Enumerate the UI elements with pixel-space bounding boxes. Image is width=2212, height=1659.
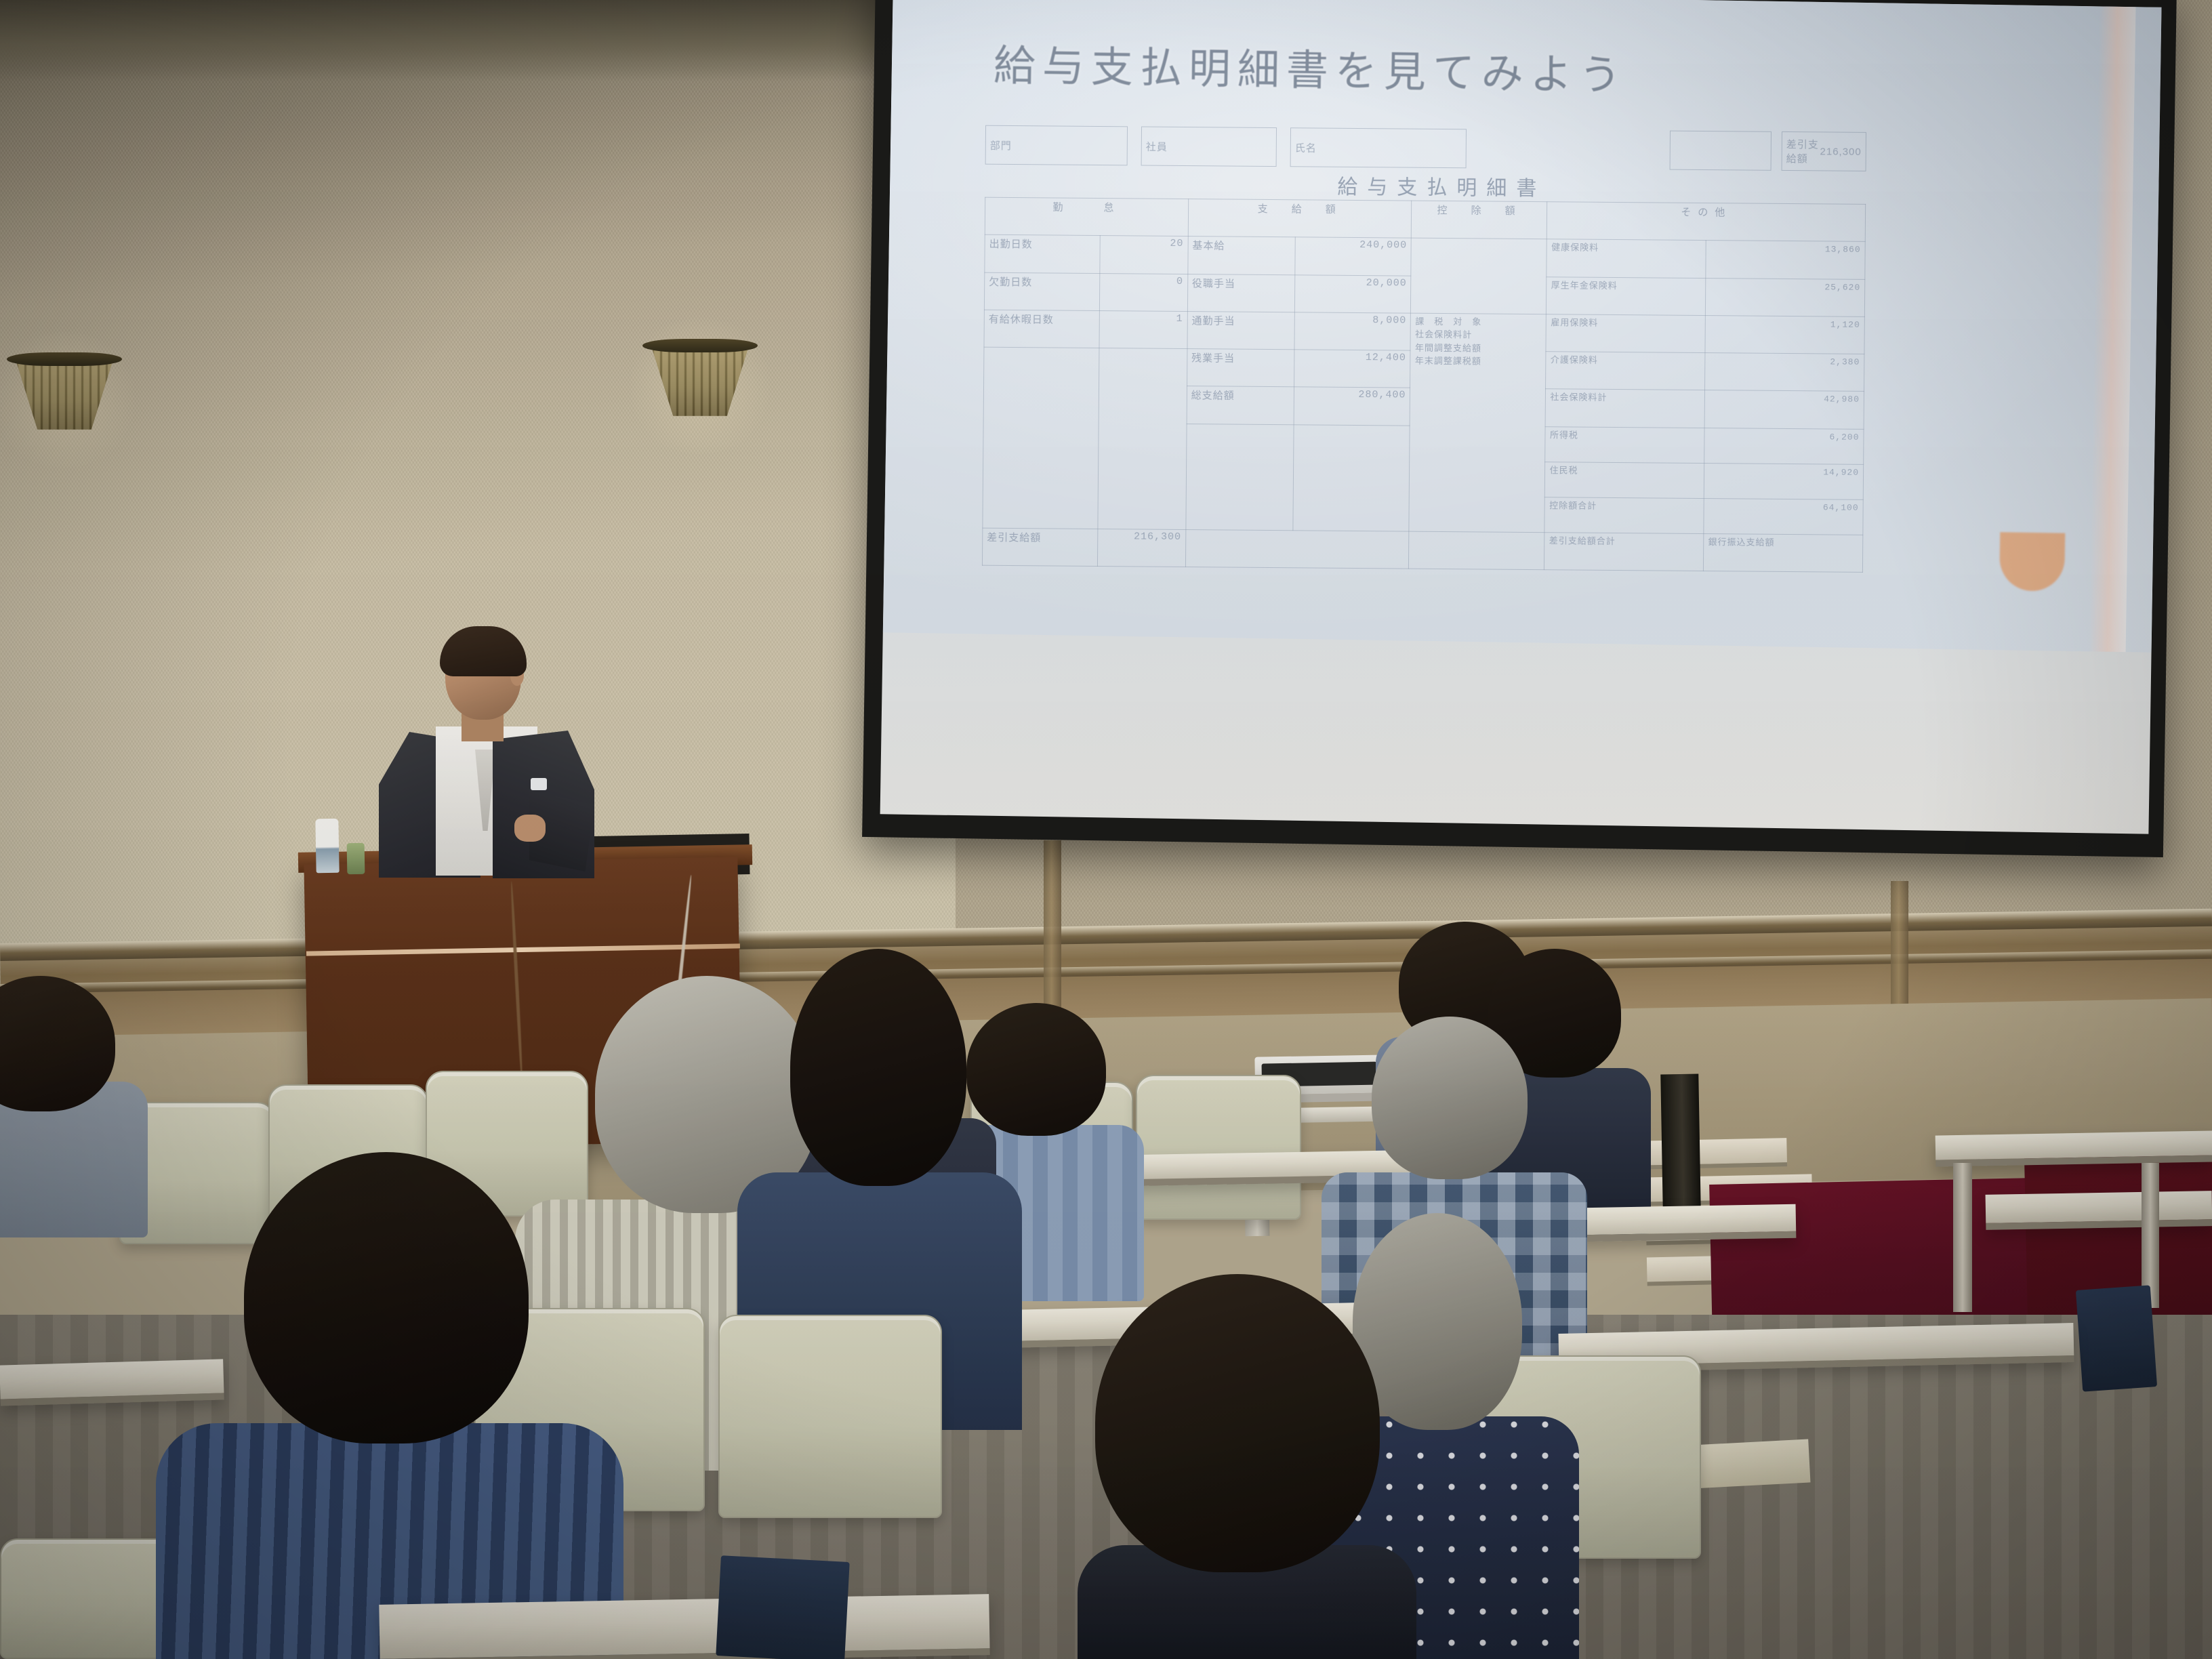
chair[interactable] <box>718 1315 942 1518</box>
deduction-value-5: 42,980 <box>1704 390 1864 429</box>
net-spacer-1 <box>1185 529 1409 569</box>
desk <box>1986 1191 2212 1230</box>
net-value-cell: 216,300 <box>1098 529 1186 567</box>
payslip-header-field-1: 部門 <box>985 125 1128 166</box>
attendance-label-1: 出勤日数 <box>985 234 1101 273</box>
payslip-section-other: その他 <box>1547 202 1866 242</box>
payslip-section-payment: 支 給 額 <box>1188 199 1412 239</box>
payslip-section-row: 勤 怠 支 給 額 控 除 額 その他 <box>985 197 1865 241</box>
deduction-value-1: 13,860 <box>1706 241 1865 279</box>
other-column-block: 課 税 対 象 社会保険料計 年間調整支給額 年末調整課税額 <box>1409 313 1547 532</box>
payment-label-3: 通勤手当 <box>1187 311 1295 349</box>
deduction-label-6: 所得税 <box>1545 426 1704 463</box>
screen-surface: 給与支払明細書を見てみよう 部門 社員 氏名 <box>880 0 2162 834</box>
other-item-1: 社会保険料計 <box>1415 328 1542 342</box>
table-row: 出勤日数 20 基本給 240,000 健康保険料 13,860 <box>985 234 1865 279</box>
slide-title: 給与支払明細書を見てみよう <box>993 31 1628 102</box>
deduction-value-2: 25,620 <box>1706 278 1865 316</box>
payslip-table: 勤 怠 支 給 額 控 除 額 その他 出勤日数 20 基本給 240,000 <box>982 197 1866 573</box>
table-row: 有給休暇日数 1 通勤手当 8,000 課 税 対 象 社会保険料計 年間調整支… <box>984 310 1864 354</box>
payslip-section-deduction: 控 除 額 <box>1412 201 1547 239</box>
payslip-document-title: 給与支払明細書 <box>1337 170 1546 201</box>
payment-value-4: 12,400 <box>1294 350 1410 388</box>
payslip-header-label-2: 社員 <box>1146 139 1168 153</box>
chair[interactable] <box>1136 1075 1301 1220</box>
payslip-net-header-value: 216,300 <box>1820 146 1861 157</box>
deduction-total-value: 64,100 <box>1704 498 1863 535</box>
net-spacer-2 <box>1409 531 1544 570</box>
deduction-gap-cell <box>1411 238 1547 314</box>
bag-on-chair <box>716 1555 849 1659</box>
desk-leg <box>1953 1163 1972 1312</box>
net-label-cell: 差引支給額 <box>982 528 1098 567</box>
photo-canvas: 給与支払明細書を見てみよう 部門 社員 氏名 <box>0 0 2212 1659</box>
attendance-value-2: 0 <box>1100 273 1188 311</box>
presenter-lapel-badge <box>531 778 547 790</box>
payslip-header-label-3: 氏名 <box>1295 140 1317 155</box>
slide-side-stripe <box>2089 6 2136 651</box>
deduction-label-1: 健康保険料 <box>1547 239 1706 278</box>
water-bottle <box>315 819 339 874</box>
ceiling-shadow <box>0 0 962 81</box>
payment-filler-1 <box>1186 424 1294 530</box>
payment-filler-2 <box>1293 424 1410 531</box>
deduction-value-4: 2,380 <box>1705 353 1864 392</box>
slide-orange-accent <box>1999 532 2065 591</box>
desk <box>379 1594 989 1659</box>
bag-on-desk <box>2076 1285 2157 1391</box>
deduction-label-2: 厚生年金保険料 <box>1547 276 1706 315</box>
deduction-label-5: 社会保険料計 <box>1546 389 1705 428</box>
wall-sconce-right-icon <box>642 339 758 417</box>
audience-person <box>1071 1274 1423 1659</box>
audience-person <box>0 962 176 1220</box>
attendance-label-2: 欠勤日数 <box>984 272 1100 311</box>
deduction-label-4: 介護保険料 <box>1546 352 1705 390</box>
audience-person <box>156 1152 630 1659</box>
presenter <box>369 630 593 874</box>
deduction-value-7: 14,920 <box>1704 463 1863 499</box>
payslip-header-field-4 <box>1670 131 1771 171</box>
payment-total-label: 総支給額 <box>1187 386 1294 424</box>
payment-value-3: 8,000 <box>1294 312 1410 351</box>
payslip-net-header: 差引支給額 216,300 <box>1782 131 1866 171</box>
other-item-0: 課 税 対 象 <box>1415 314 1542 329</box>
screen-frame: 給与支払明細書を見てみよう 部門 社員 氏名 <box>862 0 2177 857</box>
table-row: 差引支給額 216,300 差引支給額合計 銀行振込支給額 <box>982 528 1862 573</box>
payment-value-1: 240,000 <box>1295 237 1411 276</box>
other-item-11: 差引支給額合計 <box>1544 532 1704 571</box>
deduction-value-6: 6,200 <box>1704 428 1864 464</box>
payment-value-2: 20,000 <box>1295 274 1411 313</box>
payment-label-2: 役職手当 <box>1187 274 1295 312</box>
payment-label-4: 残業手当 <box>1187 349 1294 387</box>
other-item-3: 年末調整課税額 <box>1415 354 1542 369</box>
payslip-section-attendance: 勤 怠 <box>985 197 1188 237</box>
cup-on-podium <box>347 843 365 874</box>
attendance-value-1: 20 <box>1100 236 1188 274</box>
attendance-value-3: 1 <box>1099 310 1187 348</box>
payslip-header-label-1: 部門 <box>990 138 1012 152</box>
other-item-12: 銀行振込支給額 <box>1704 533 1863 572</box>
wall-sconce-left-icon <box>7 352 122 431</box>
payslip-form: 部門 社員 氏名 差引支給額 216,300 給与支払 <box>982 125 1866 573</box>
deduction-value-3: 1,120 <box>1705 315 1864 354</box>
attendance-filler-1 <box>983 347 1099 529</box>
attendance-filler-2 <box>1098 348 1187 530</box>
slide-canvas: 給与支払明細書を見てみよう 部門 社員 氏名 <box>883 0 2162 652</box>
payment-label-1: 基本給 <box>1188 237 1296 274</box>
attendance-label-3: 有給休暇日数 <box>984 310 1100 348</box>
presenter-hair <box>440 626 527 676</box>
payment-total-value: 280,400 <box>1294 387 1410 426</box>
payslip-header-field-2: 社員 <box>1141 126 1277 167</box>
projection-screen: 給与支払明細書を見てみよう 部門 社員 氏名 <box>862 0 2177 857</box>
other-item-2: 年間調整支給額 <box>1415 341 1542 355</box>
deduction-label-3: 雇用保険料 <box>1546 314 1705 352</box>
payslip-header-field-3: 氏名 <box>1290 127 1467 168</box>
payslip-net-header-label: 差引支給額 <box>1786 137 1820 165</box>
deduction-total-label: 控除額合計 <box>1544 497 1704 533</box>
presenter-hand <box>514 815 546 842</box>
deduction-label-7: 住民税 <box>1545 462 1704 498</box>
desk <box>1935 1130 2212 1166</box>
